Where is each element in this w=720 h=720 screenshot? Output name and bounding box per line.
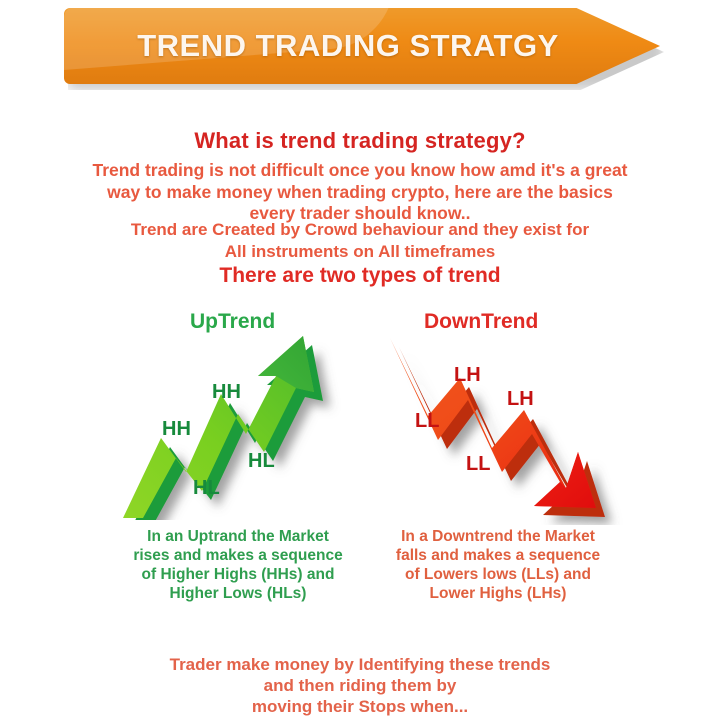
uptrend-description-line: In an Uptrand the Market bbox=[113, 527, 363, 546]
downtrend-arrow-graphic: LH LH LL LL bbox=[382, 330, 632, 525]
intro-paragraph-line: Trend trading is not difficult once you … bbox=[0, 160, 720, 182]
page-title: What is trend trading strategy? bbox=[0, 128, 720, 154]
footer-line: and then riding them by bbox=[0, 675, 720, 696]
downtrend-description-line: falls and makes a sequence bbox=[373, 546, 623, 565]
uptrend-description-line: of Higher Highs (HHs) and bbox=[113, 565, 363, 584]
downtrend-label-ll-1: LL bbox=[415, 410, 439, 433]
intro-paragraph-secondary: Trend are Created by Crowd behaviour and… bbox=[0, 219, 720, 262]
intro-paragraph-line: All instruments on All timeframes bbox=[0, 241, 720, 263]
uptrend-label-hh-1: HH bbox=[162, 418, 191, 441]
infographic-page: TREND TRADING STRATGY What is trend trad… bbox=[0, 0, 720, 720]
uptrend-description-line: Higher Lows (HLs) bbox=[113, 584, 363, 603]
downtrend-description-line: In a Downtrend the Market bbox=[373, 527, 623, 546]
uptrend-description: In an Uptrand the Market rises and makes… bbox=[113, 527, 363, 603]
uptrend-arrow-graphic: HH HH HL HL bbox=[118, 330, 368, 520]
downtrend-label-lh-2: LH bbox=[507, 388, 534, 411]
footer-line: Trader make money by Identifying these t… bbox=[0, 654, 720, 675]
header-banner: TREND TRADING STRATGY bbox=[64, 8, 664, 88]
footer-line: moving their Stops when... bbox=[0, 696, 720, 717]
downtrend-label-ll-2: LL bbox=[466, 453, 490, 476]
uptrend-arrow-svg bbox=[118, 330, 368, 520]
uptrend-label-hh-2: HH bbox=[212, 381, 241, 404]
footer-text: Trader make money by Identifying these t… bbox=[0, 654, 720, 717]
intro-paragraph-line: Trend are Created by Crowd behaviour and… bbox=[0, 219, 720, 241]
uptrend-label-hl-2: HL bbox=[248, 450, 275, 473]
intro-paragraph-line: way to make money when trading crypto, h… bbox=[0, 182, 720, 204]
uptrend-label-hl-1: HL bbox=[193, 477, 220, 500]
downtrend-description-line: Lower Highs (LHs) bbox=[373, 584, 623, 603]
intro-paragraph: Trend trading is not difficult once you … bbox=[0, 160, 720, 225]
downtrend-description: In a Downtrend the Market falls and make… bbox=[373, 527, 623, 603]
types-heading: There are two types of trend bbox=[0, 264, 720, 288]
banner-title: TREND TRADING STRATGY bbox=[64, 8, 660, 84]
downtrend-description-line: of Lowers lows (LLs) and bbox=[373, 565, 623, 584]
uptrend-description-line: rises and makes a sequence bbox=[113, 546, 363, 565]
downtrend-label-lh-1: LH bbox=[454, 364, 481, 387]
